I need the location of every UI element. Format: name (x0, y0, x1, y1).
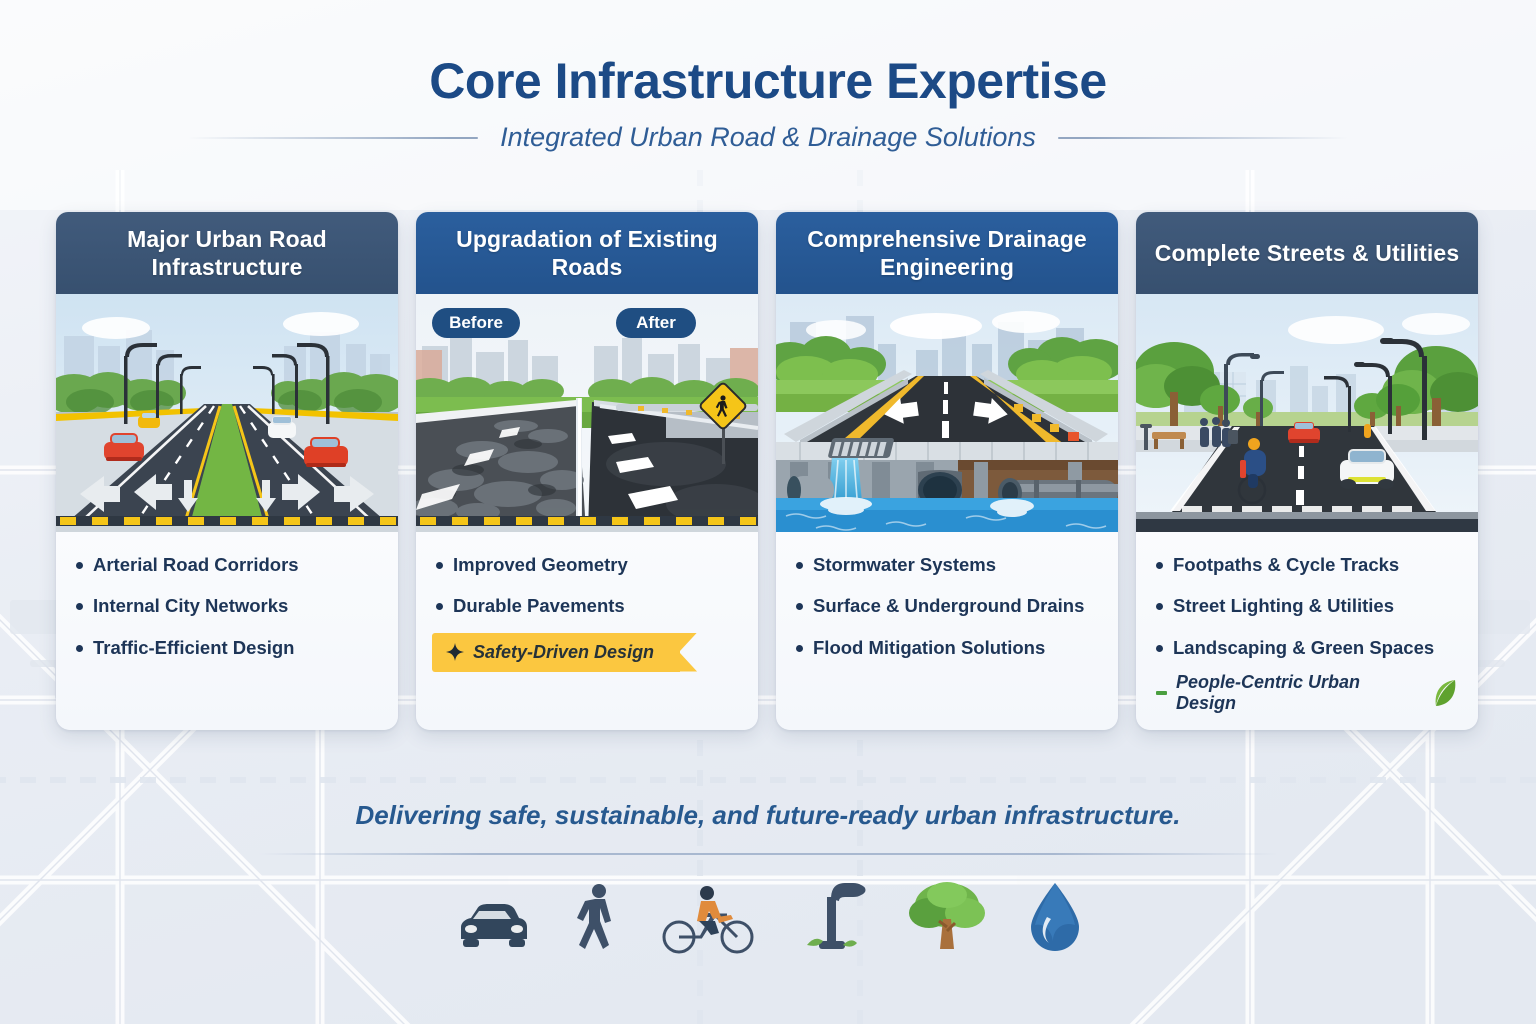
card-body-2: Improved Geometry Durable Pavements Safe… (416, 532, 758, 678)
list-item: Traffic-Efficient Design (76, 637, 378, 658)
footer-tagline: Delivering safe, sustainable, and future… (0, 800, 1536, 831)
bullet-dot-icon (76, 603, 83, 610)
divider-left (188, 137, 478, 139)
bullet-dot-icon (76, 645, 83, 652)
street-lamp-icon (799, 879, 867, 955)
list-item: Durable Pavements (436, 595, 738, 616)
people-centric-note: People-Centric Urban Design (1156, 672, 1458, 714)
pedestrian-icon (575, 883, 619, 955)
card-body-4: Footpaths & Cycle Tracks Street Lighting… (1136, 532, 1478, 720)
card-title-1: Major Urban Road Infrastructure (56, 212, 398, 294)
list-item: Landscaping & Green Spaces (1156, 637, 1458, 658)
card-body-1: Arterial Road Corridors Internal City Ne… (56, 532, 398, 684)
badge-before: Before (432, 308, 520, 338)
tree-icon (909, 879, 985, 955)
bullet-dot-icon (76, 562, 83, 569)
list-item: Improved Geometry (436, 554, 738, 575)
page-subtitle: Integrated Urban Road & Drainage Solutio… (500, 122, 1036, 153)
svg-text:After: After (636, 313, 676, 332)
list-item: Internal City Networks (76, 595, 378, 616)
card-drainage-engineering[interactable]: Comprehensive Drainage Engineering (776, 212, 1118, 730)
svg-text:Before: Before (449, 313, 503, 332)
bullet-dot-icon (796, 562, 803, 569)
bullet-dot-icon (1156, 603, 1163, 610)
divider-right (1058, 137, 1348, 139)
before-after-road-illustration: Before After (416, 294, 758, 532)
water-drop-icon (1027, 881, 1083, 955)
bullet-label: Traffic-Efficient Design (93, 637, 294, 658)
list-item: Surface & Underground Drains (796, 595, 1098, 616)
footer-icon-strip (0, 869, 1536, 955)
safety-driven-design-ribbon: Safety-Driven Design (432, 633, 680, 672)
dash-marker-icon (1156, 691, 1167, 695)
green-note-label: People-Centric Urban Design (1176, 672, 1425, 714)
card-title-2: Upgradation of Existing Roads (416, 212, 758, 294)
list-item: Stormwater Systems (796, 554, 1098, 575)
bullet-label: Street Lighting & Utilities (1173, 595, 1394, 616)
footer-divider (258, 853, 1278, 855)
leaf-icon (1434, 679, 1458, 707)
bullet-label: Footpaths & Cycle Tracks (1173, 554, 1399, 575)
card-grid: Major Urban Road Infrastructure (56, 212, 1484, 730)
list-item: Arterial Road Corridors (76, 554, 378, 575)
bullet-label: Internal City Networks (93, 595, 288, 616)
badge-after: After (616, 308, 696, 338)
bullet-dot-icon (436, 603, 443, 610)
card-major-urban-road[interactable]: Major Urban Road Infrastructure (56, 212, 398, 730)
page-header: Core Infrastructure Expertise Integrated… (0, 0, 1536, 153)
bullet-dot-icon (1156, 645, 1163, 652)
bullet-label: Durable Pavements (453, 595, 625, 616)
page-title: Core Infrastructure Expertise (0, 52, 1536, 110)
bullet-label: Flood Mitigation Solutions (813, 637, 1045, 658)
page-footer: Delivering safe, sustainable, and future… (0, 800, 1536, 955)
card-title-3: Comprehensive Drainage Engineering (776, 212, 1118, 294)
list-item: Flood Mitigation Solutions (796, 637, 1098, 658)
subtitle-row: Integrated Urban Road & Drainage Solutio… (0, 122, 1536, 153)
card-complete-streets-utilities[interactable]: Complete Streets & Utilities (1136, 212, 1478, 730)
bullet-label: Surface & Underground Drains (813, 595, 1084, 616)
bullet-label: Improved Geometry (453, 554, 628, 575)
list-item: Street Lighting & Utilities (1156, 595, 1458, 616)
card-body-3: Stormwater Systems Surface & Underground… (776, 532, 1118, 684)
divided-highway-illustration (56, 294, 398, 532)
bullet-label: Stormwater Systems (813, 554, 996, 575)
card-upgradation-existing-roads[interactable]: Upgradation of Existing Roads (416, 212, 758, 730)
bullet-dot-icon (796, 645, 803, 652)
complete-street-illustration (1136, 294, 1478, 532)
bullet-dot-icon (436, 562, 443, 569)
drainage-cutaway-illustration (776, 294, 1118, 532)
cyclist-icon (661, 883, 757, 955)
list-item: Footpaths & Cycle Tracks (1156, 554, 1458, 575)
bullet-dot-icon (1156, 562, 1163, 569)
ribbon-label: Safety-Driven Design (473, 642, 654, 663)
sparkle-icon (446, 643, 464, 661)
bullet-label: Landscaping & Green Spaces (1173, 637, 1434, 658)
bullet-label: Arterial Road Corridors (93, 554, 299, 575)
car-icon (453, 899, 533, 955)
card-title-4: Complete Streets & Utilities (1136, 212, 1478, 294)
bullet-dot-icon (796, 603, 803, 610)
